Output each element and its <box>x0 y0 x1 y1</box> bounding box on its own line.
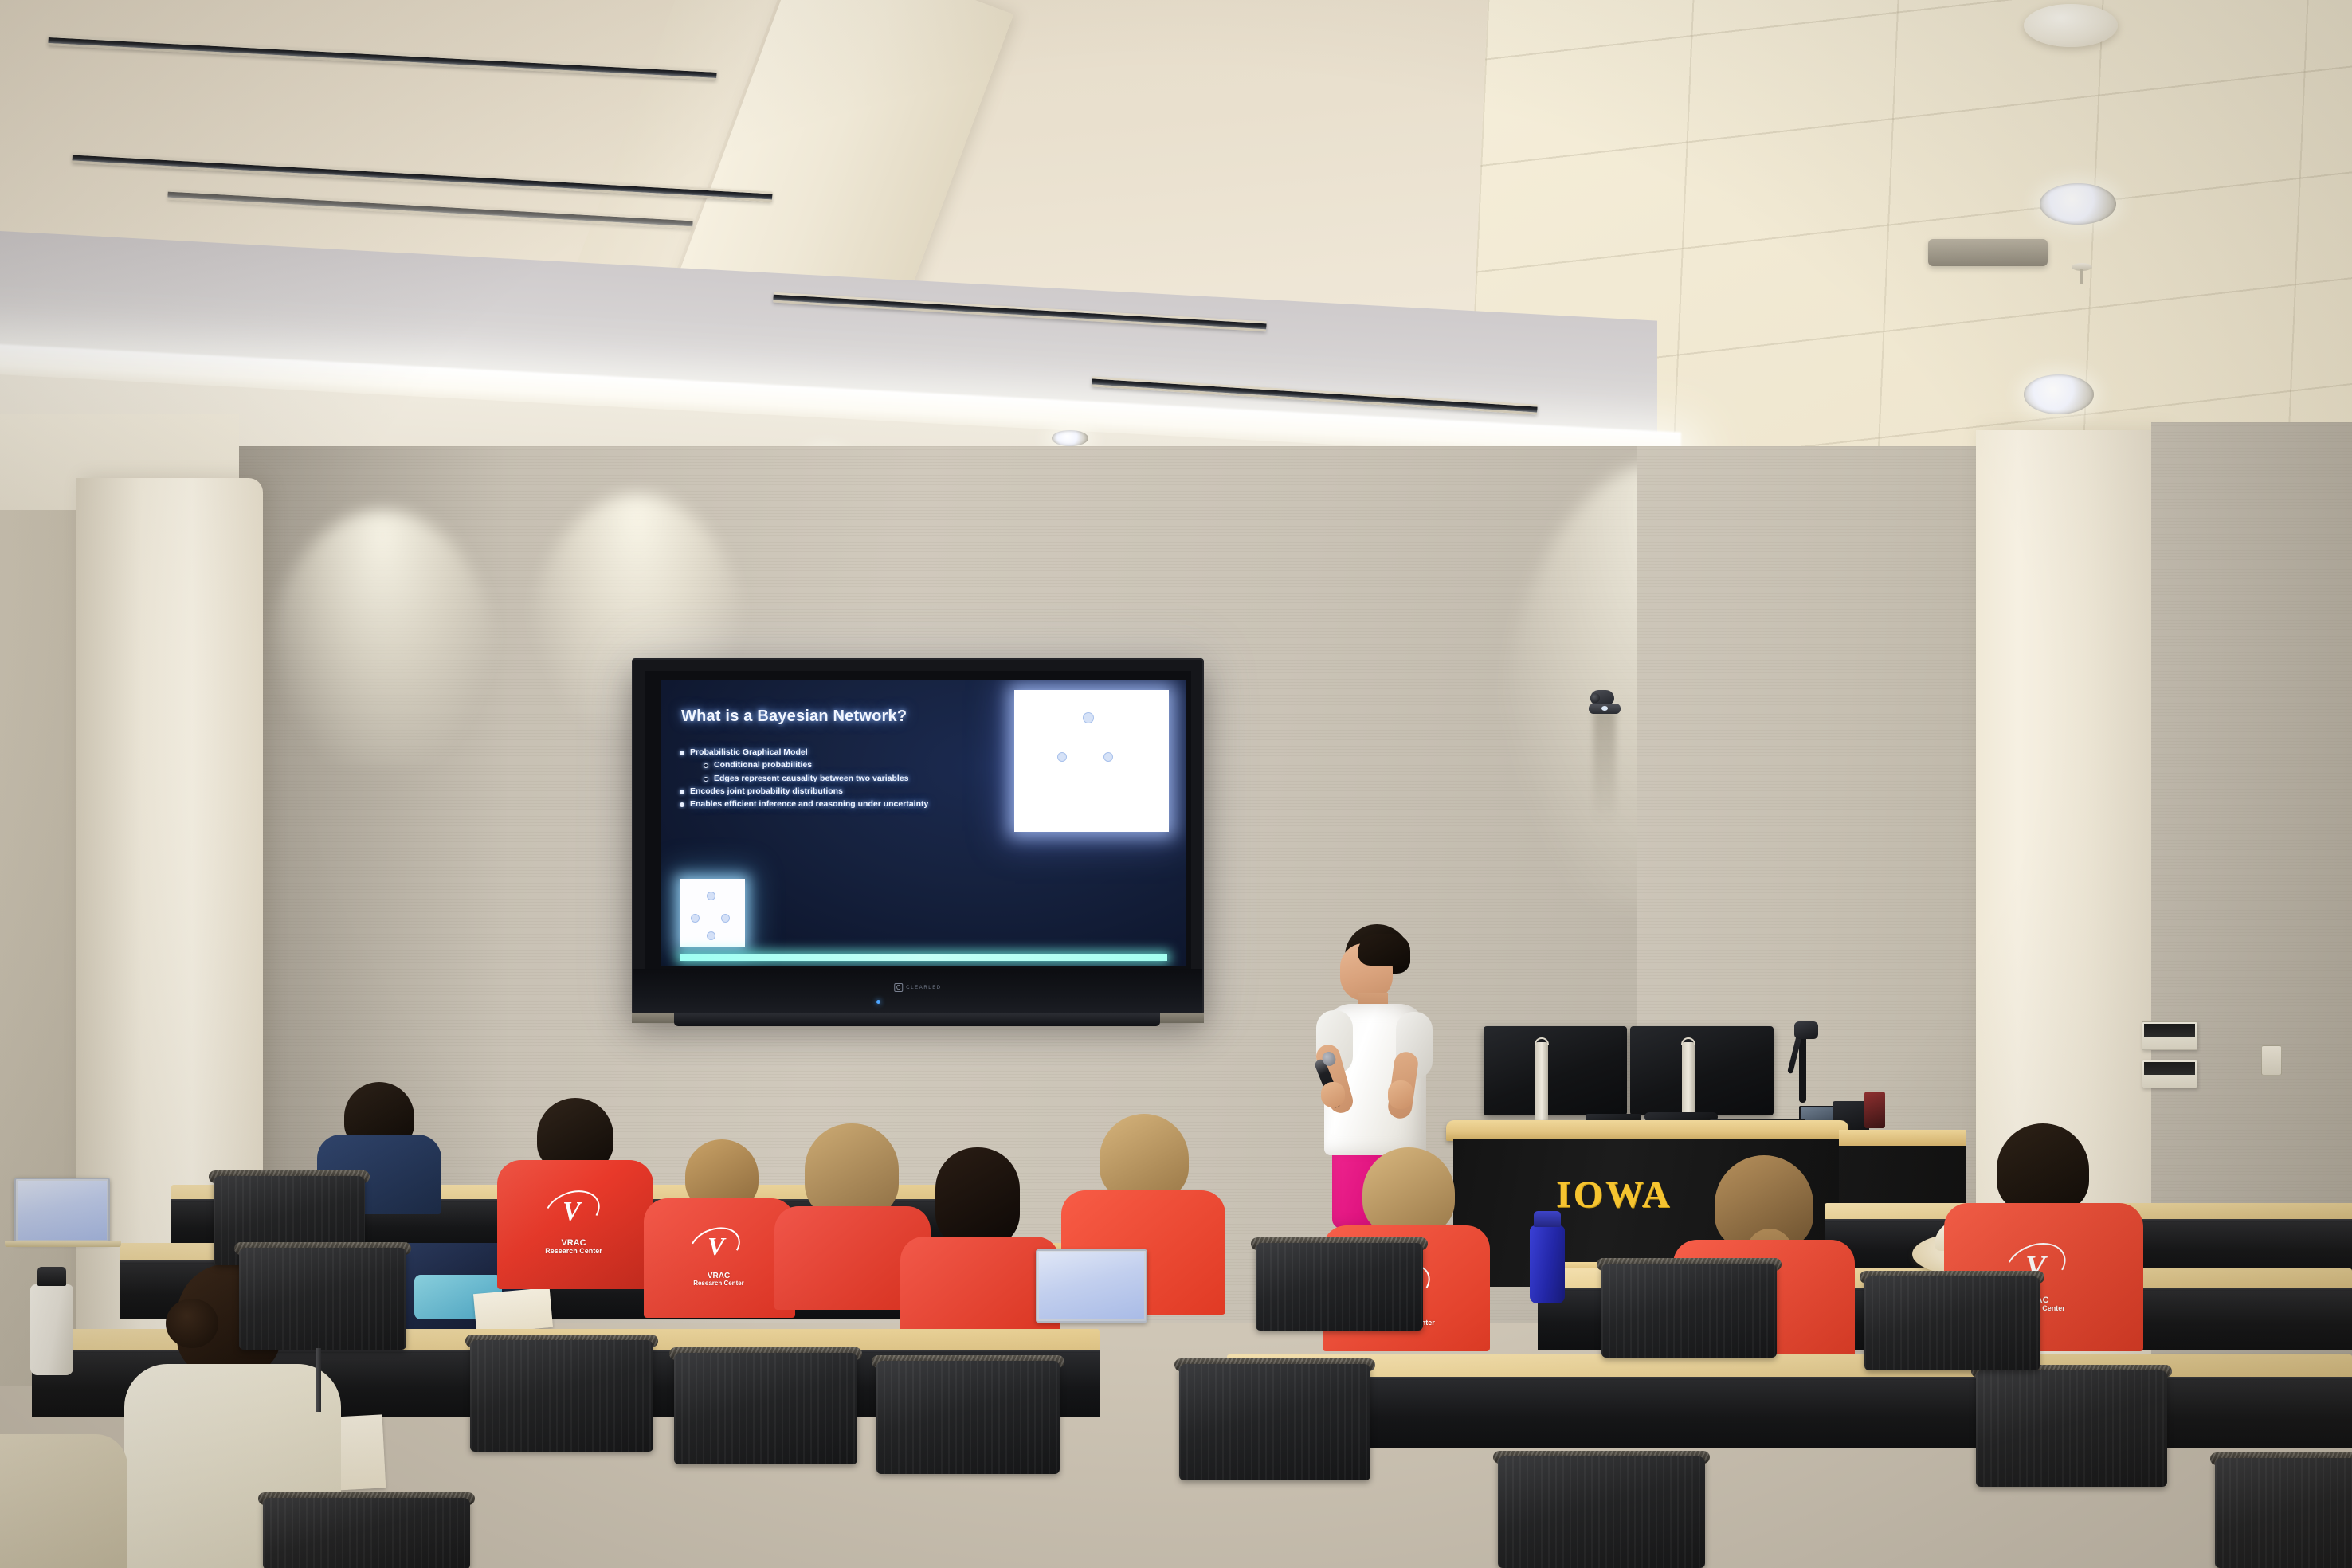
vrac-shirt-label: VRAC Research Center <box>531 1238 617 1256</box>
power-led-icon <box>876 1000 880 1004</box>
chair-back <box>1976 1370 2167 1487</box>
chair[interactable] <box>876 1361 1060 1474</box>
graph-node <box>1083 712 1094 723</box>
podium-monitor-right <box>1630 1026 1774 1115</box>
chair-back <box>1498 1456 1705 1568</box>
display-brand: C CLEARLED <box>894 983 941 992</box>
vrac-shirt-label: VRAC Research Center <box>677 1272 760 1288</box>
vrac-v-icon: V <box>563 1197 581 1227</box>
presenter-hair-top <box>1358 934 1410 966</box>
graph-node <box>1103 752 1113 762</box>
bullet-dot-icon <box>680 790 684 794</box>
graph-node <box>707 931 715 940</box>
graph-node <box>1057 752 1067 762</box>
laptop-left-back-base <box>5 1241 121 1249</box>
iowa-logo: IOWA <box>1556 1176 1672 1214</box>
laptop-center[interactable] <box>1036 1249 1147 1323</box>
laptop-base <box>5 1241 121 1247</box>
chair[interactable] <box>2215 1458 2352 1568</box>
student-head <box>1100 1114 1189 1200</box>
list-item: Encodes joint probability distributions <box>680 785 1030 798</box>
bullet-dot-icon <box>680 751 684 755</box>
desk-row-2-right <box>1227 1354 2352 1378</box>
student-head <box>805 1123 899 1219</box>
graph-node <box>691 914 700 923</box>
wall-outlet <box>2261 1045 2282 1076</box>
slide-accent-bar <box>680 954 1167 961</box>
slide-image-top-right <box>1014 690 1169 832</box>
display-wall-mount <box>674 1013 1160 1026</box>
slide-title: What is a Bayesian Network? <box>681 708 907 726</box>
document-camera-head-icon <box>1794 1021 1818 1039</box>
recessed-downlight <box>2040 183 2116 225</box>
presentation-display[interactable]: What is a Bayesian Network? Probabilisti… <box>632 658 1204 1015</box>
chair-back <box>1179 1364 1370 1480</box>
chair[interactable] <box>1601 1264 1777 1358</box>
chair-back <box>2215 1458 2352 1568</box>
sprinkler-head <box>2072 263 2092 271</box>
chair[interactable] <box>470 1340 653 1452</box>
chair[interactable] <box>1256 1243 1423 1331</box>
chair[interactable] <box>1498 1456 1705 1568</box>
chair[interactable] <box>263 1498 470 1568</box>
chair-back <box>674 1353 857 1464</box>
vrac-line-2: Research Center <box>677 1280 760 1288</box>
chair[interactable] <box>1976 1370 2167 1487</box>
chair[interactable] <box>239 1248 406 1350</box>
graph-node <box>707 892 715 900</box>
wall-left <box>0 510 88 1386</box>
brand-label: CLEARLED <box>906 986 941 990</box>
chair[interactable] <box>1179 1364 1370 1480</box>
lectern-top-surface <box>1446 1120 1848 1141</box>
camera-shadow <box>1593 711 1616 822</box>
chair-back <box>470 1340 653 1452</box>
chair-back <box>1864 1276 2040 1370</box>
bullet-text: Enables efficient inference and reasonin… <box>690 798 928 810</box>
slide-canvas: What is a Bayesian Network? Probabilisti… <box>661 680 1186 966</box>
recessed-downlight <box>2024 374 2094 414</box>
student-head <box>935 1147 1020 1248</box>
camera-lens-icon <box>1590 693 1600 703</box>
student-head <box>1997 1123 2089 1213</box>
light-switch-panel[interactable] <box>2142 1060 2197 1088</box>
vrac-line-2: Research Center <box>531 1248 617 1256</box>
switch-panel-face <box>2144 1062 2195 1075</box>
water-bottle-white <box>30 1284 73 1375</box>
bottle-cap <box>1534 1211 1561 1227</box>
list-item: Enables efficient inference and reasonin… <box>680 798 1030 810</box>
graph-node <box>721 914 730 923</box>
bullet-dot-icon <box>680 802 684 807</box>
water-bottle-blue <box>1530 1225 1565 1303</box>
vrac-v-icon: V <box>708 1232 724 1261</box>
student-torso <box>0 1434 127 1568</box>
brand-mark-icon: C <box>894 983 903 992</box>
display-chin: C CLEARLED <box>633 969 1202 1013</box>
presenter-hand-left <box>1321 1082 1345 1107</box>
notebook-page <box>473 1288 553 1334</box>
chair-back <box>1601 1264 1777 1358</box>
desk-front-panel <box>1227 1380 2352 1448</box>
slide-bullet-list: Probabilistic Graphical Model Conditiona… <box>680 746 1030 810</box>
ceiling-speaker <box>1928 239 2048 266</box>
light-switch-panel[interactable] <box>2142 1021 2197 1050</box>
bullet-text: Edges represent causality between two va… <box>714 772 909 785</box>
laptop-screen <box>18 1181 107 1240</box>
student-1: V VRAC Research Center <box>494 1098 653 1289</box>
switch-panel-face <box>2144 1024 2195 1037</box>
chair-back <box>876 1361 1060 1474</box>
chair-leg <box>316 1348 321 1412</box>
list-item: Edges represent causality between two va… <box>704 772 1030 785</box>
recessed-downlight <box>1052 430 1088 446</box>
chair-back <box>239 1248 406 1350</box>
student-hair-bun <box>166 1299 218 1348</box>
laptop-screen <box>1039 1252 1144 1319</box>
bullet-circle-icon <box>704 763 708 768</box>
student-head <box>1362 1147 1455 1235</box>
student-10-foreground-left <box>0 1434 127 1568</box>
bullet-text: Encodes joint probability distributions <box>690 785 843 798</box>
ptz-camera-icon <box>1589 690 1622 711</box>
bullet-circle-icon <box>704 777 708 782</box>
bullet-text: Probabilistic Graphical Model <box>690 746 808 759</box>
podium-monitor-left <box>1484 1026 1627 1115</box>
smoke-detector <box>2024 4 2118 47</box>
monitor-stand-left <box>1535 1042 1548 1130</box>
bottle-cap <box>37 1267 66 1286</box>
list-item: Conditional probabilities <box>704 759 1030 771</box>
chair[interactable] <box>674 1353 857 1464</box>
laptop-left-back[interactable] <box>14 1178 110 1243</box>
chair-back <box>1256 1243 1423 1331</box>
slide-image-bottom-left <box>680 879 745 947</box>
lecture-hall-scene: What is a Bayesian Network? Probabilisti… <box>0 0 2352 1568</box>
camera-indicator-icon <box>1601 706 1608 711</box>
list-item: Probabilistic Graphical Model <box>680 746 1030 759</box>
bullet-text: Conditional probabilities <box>714 759 812 771</box>
chair-back <box>263 1498 470 1568</box>
chair[interactable] <box>1864 1276 2040 1370</box>
presenter-hand-right <box>1388 1080 1413 1109</box>
